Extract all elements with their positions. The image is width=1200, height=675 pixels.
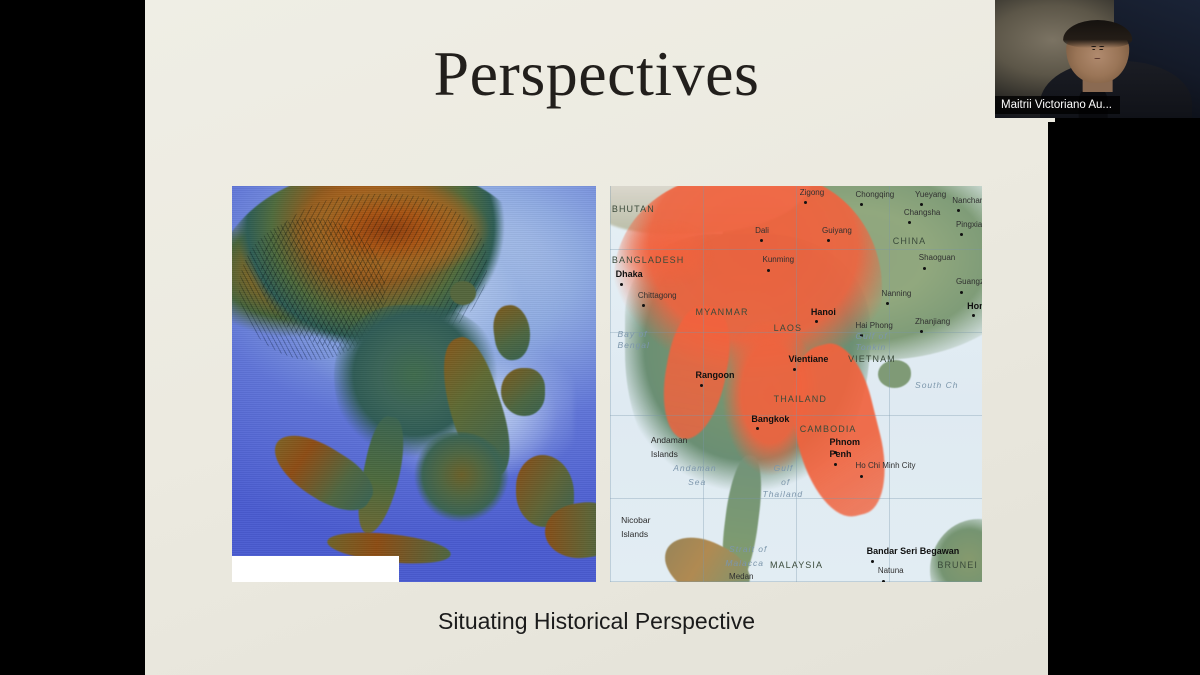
southeast-asia-relief-map [232,186,596,582]
screen-share-stage: Perspectives [0,0,1200,675]
city-dot [834,463,837,466]
relief-borneo [414,432,509,527]
slide-caption: Situating Historical Perspective [145,608,1048,635]
city-dot [827,239,830,242]
relief-caption-bar [232,556,399,582]
relief-hainan [450,281,475,305]
city-dot [620,283,623,286]
city-dot [871,560,874,563]
city-dot [700,384,703,387]
city-dot [756,427,759,430]
city-dot [767,269,770,272]
relief-map-canvas [232,186,596,582]
mainland-southeast-asia-highland-map: BHUTANBANGLADESHCHINAMYANMARLAOSVIETNAMT… [610,186,982,582]
city-dot [882,580,885,582]
participant-mouth [1095,58,1101,59]
city-dot [860,475,863,478]
city-dot [972,314,975,317]
participant-eye-left [1092,49,1096,51]
city-dot [760,239,763,242]
relief-mindanao [501,368,545,416]
atlas-map-canvas: BHUTANBANGLADESHCHINAMYANMARLAOSVIETNAMT… [610,186,982,582]
video-participant-tile[interactable]: Maitrii Victoriano Au... [995,0,1200,118]
page-title: Perspectives [145,40,1048,107]
city-dot [793,368,796,371]
participant-name-label: Maitrii Victoriano Au... [995,96,1120,114]
presentation-slide: Perspectives [145,0,1048,675]
participant-eye-right [1099,49,1103,51]
city-dot [834,451,837,454]
city-dot [920,330,923,333]
atlas-hainan [878,360,911,388]
